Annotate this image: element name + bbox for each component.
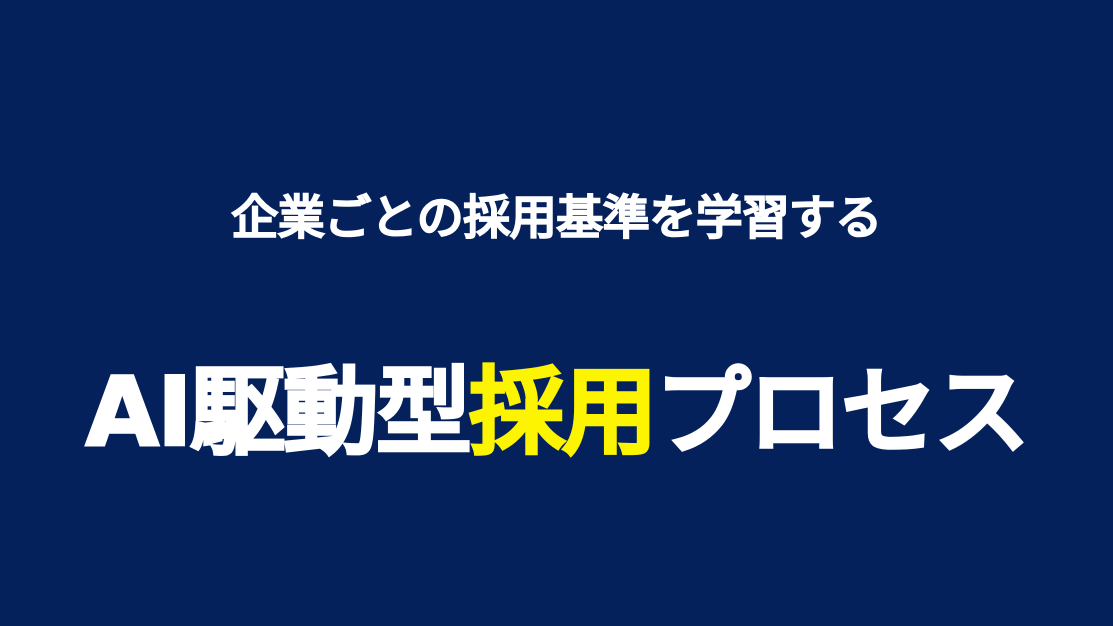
slide-headline: AI駆動型採用プロセス: [86, 364, 1028, 464]
headline-segment-prefix: AI駆動型: [86, 358, 470, 468]
subtitle-row: 企業ごとの採用基準を学習する: [0, 193, 1113, 245]
headline-segment-suffix: プロセス: [655, 358, 1027, 468]
headline-segment-highlight: 採用: [469, 358, 655, 468]
slide-subtitle: 企業ごとの採用基準を学習する: [231, 193, 882, 245]
title-slide: 企業ごとの採用基準を学習する AI駆動型採用プロセス: [0, 0, 1113, 626]
headline-row: AI駆動型採用プロセス: [0, 300, 1113, 527]
